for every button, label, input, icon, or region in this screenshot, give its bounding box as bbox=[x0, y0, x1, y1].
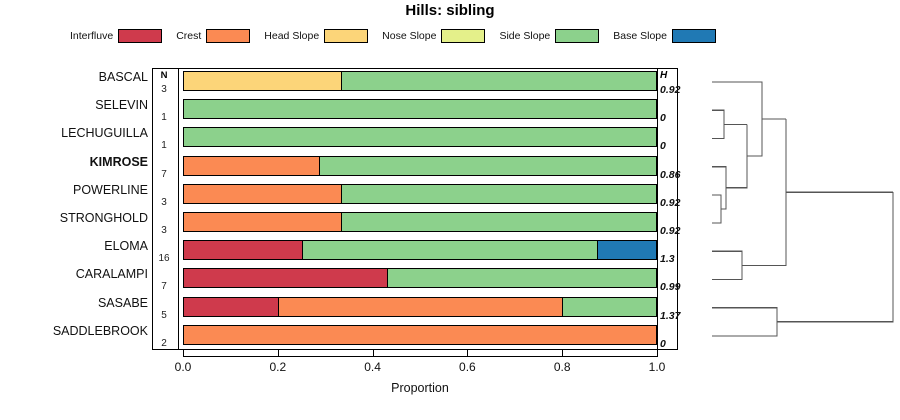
legend-entry[interactable]: Interfluve bbox=[70, 29, 162, 43]
legend-swatch bbox=[441, 29, 485, 43]
x-axis-tick-label: 1.0 bbox=[632, 360, 682, 374]
x-axis-tick bbox=[467, 350, 468, 357]
row-count-n: 5 bbox=[152, 310, 176, 321]
bar-segment[interactable] bbox=[184, 157, 319, 175]
row-label: SELEVIN bbox=[0, 98, 148, 112]
bar-segment[interactable] bbox=[302, 241, 597, 259]
bar-segment[interactable] bbox=[278, 298, 561, 316]
row-count-n: 1 bbox=[152, 140, 176, 151]
bar-segment[interactable] bbox=[319, 157, 656, 175]
legend: InterfluveCrestHead SlopeNose SlopeSide … bbox=[70, 27, 770, 45]
stacked-bar[interactable] bbox=[183, 156, 657, 176]
row-count-n: 16 bbox=[152, 253, 176, 264]
row-count-n: 3 bbox=[152, 225, 176, 236]
stacked-bar[interactable] bbox=[183, 297, 657, 317]
stacked-bar[interactable] bbox=[183, 127, 657, 147]
legend-entry[interactable]: Nose Slope bbox=[382, 29, 485, 43]
page-title: Hills: sibling bbox=[0, 2, 900, 19]
stacked-bar[interactable] bbox=[183, 212, 657, 232]
bar-segment[interactable] bbox=[597, 241, 656, 259]
legend-label: Interfluve bbox=[70, 30, 113, 42]
x-axis-tick bbox=[183, 350, 184, 357]
bar-segment[interactable] bbox=[387, 269, 656, 287]
legend-swatch bbox=[555, 29, 599, 43]
row-label: CARALAMPI bbox=[0, 267, 148, 281]
bar-segment[interactable] bbox=[184, 213, 341, 231]
row-label: LECHUGUILLA bbox=[0, 126, 148, 140]
stacked-bar[interactable] bbox=[183, 184, 657, 204]
row-label: BASCAL bbox=[0, 70, 148, 84]
bar-segment[interactable] bbox=[562, 298, 656, 316]
row-count-n: 3 bbox=[152, 197, 176, 208]
legend-swatch bbox=[324, 29, 368, 43]
legend-entry[interactable]: Head Slope bbox=[264, 29, 368, 43]
x-axis-tick-label: 0.4 bbox=[348, 360, 398, 374]
legend-label: Base Slope bbox=[613, 30, 667, 42]
x-axis-tick bbox=[562, 350, 563, 357]
stacked-bar[interactable] bbox=[183, 71, 657, 91]
legend-label: Crest bbox=[176, 30, 201, 42]
bar-segment[interactable] bbox=[184, 269, 387, 287]
legend-label: Head Slope bbox=[264, 30, 319, 42]
row-label: POWERLINE bbox=[0, 183, 148, 197]
x-axis-title: Proportion bbox=[183, 381, 657, 395]
stacked-bar[interactable] bbox=[183, 99, 657, 119]
x-axis-tick bbox=[657, 350, 658, 357]
bar-segment[interactable] bbox=[184, 326, 656, 344]
x-axis-tick-label: 0.8 bbox=[537, 360, 587, 374]
row-label: KIMROSE bbox=[0, 155, 148, 169]
row-count-n: 1 bbox=[152, 112, 176, 123]
row-label: SASABE bbox=[0, 296, 148, 310]
legend-label: Nose Slope bbox=[382, 30, 436, 42]
stacked-bar[interactable] bbox=[183, 240, 657, 260]
x-axis-tick bbox=[373, 350, 374, 357]
bar-segment[interactable] bbox=[184, 241, 302, 259]
bar-segment[interactable] bbox=[184, 185, 341, 203]
row-label: ELOMA bbox=[0, 239, 148, 253]
legend-swatch bbox=[206, 29, 250, 43]
row-count-n: 2 bbox=[152, 338, 176, 349]
legend-swatch bbox=[118, 29, 162, 43]
bar-segment[interactable] bbox=[184, 128, 656, 146]
bar-segment[interactable] bbox=[184, 72, 341, 90]
row-label: SADDLEBROOK bbox=[0, 324, 148, 338]
x-axis-line bbox=[183, 356, 657, 357]
row-count-n: 7 bbox=[152, 281, 176, 292]
x-axis-tick-label: 0.6 bbox=[442, 360, 492, 374]
bar-segment[interactable] bbox=[184, 100, 656, 118]
chart-root: Hills: sibling InterfluveCrestHead Slope… bbox=[0, 0, 900, 420]
legend-entry[interactable]: Crest bbox=[176, 29, 250, 43]
legend-entry[interactable]: Base Slope bbox=[613, 29, 716, 43]
x-axis-tick-label: 0.2 bbox=[253, 360, 303, 374]
bar-segment[interactable] bbox=[341, 185, 656, 203]
row-count-n: 7 bbox=[152, 169, 176, 180]
bar-segment[interactable] bbox=[341, 213, 656, 231]
row-count-n: 3 bbox=[152, 84, 176, 95]
row-label: STRONGHOLD bbox=[0, 211, 148, 225]
bar-segment[interactable] bbox=[184, 298, 278, 316]
x-axis-tick-label: 0.0 bbox=[158, 360, 208, 374]
x-axis-tick bbox=[278, 350, 279, 357]
bar-segment[interactable] bbox=[341, 72, 656, 90]
legend-swatch bbox=[672, 29, 716, 43]
dendrogram bbox=[690, 60, 900, 355]
legend-entry[interactable]: Side Slope bbox=[499, 29, 599, 43]
stacked-bar[interactable] bbox=[183, 268, 657, 288]
stacked-bar[interactable] bbox=[183, 325, 657, 345]
legend-label: Side Slope bbox=[499, 30, 550, 42]
